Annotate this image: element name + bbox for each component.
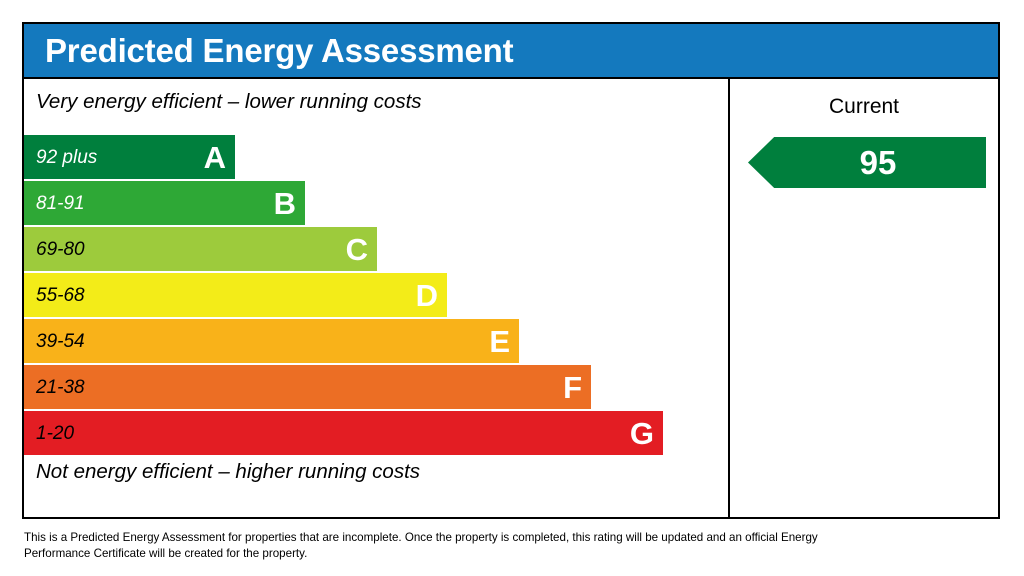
rating-band-e: 39-54E xyxy=(24,319,519,363)
band-range-label: 1-20 xyxy=(24,424,74,443)
current-rating-arrow: 95 xyxy=(748,137,986,188)
band-range-label: 21-38 xyxy=(24,378,85,397)
band-range-label: 39-54 xyxy=(24,332,85,351)
rating-band-c: 69-80C xyxy=(24,227,377,271)
current-column-header: Current xyxy=(730,95,998,119)
band-letter-label: E xyxy=(489,326,519,357)
footnote-text: This is a Predicted Energy Assessment fo… xyxy=(24,530,824,563)
band-letter-label: G xyxy=(630,418,663,449)
epc-screenshot: Predicted Energy Assessment Very energy … xyxy=(0,0,1024,576)
chart-title-banner: Predicted Energy Assessment xyxy=(24,24,998,77)
efficient-caption: Very energy efficient – lower running co… xyxy=(36,90,422,114)
rating-scale-column: Very energy efficient – lower running co… xyxy=(24,79,728,517)
band-range-label: 55-68 xyxy=(24,286,85,305)
band-letter-label: A xyxy=(204,142,235,173)
inefficient-caption: Not energy efficient – higher running co… xyxy=(36,460,420,484)
page-title: Predicted Energy Assessment xyxy=(24,34,513,67)
rating-band-g: 1-20G xyxy=(24,411,663,455)
band-letter-label: D xyxy=(416,280,447,311)
chart-body: Very energy efficient – lower running co… xyxy=(24,77,998,517)
rating-bands-list: 92 plusA81-91B69-80C55-68D39-54E21-38F1-… xyxy=(24,135,728,457)
rating-band-b: 81-91B xyxy=(24,181,305,225)
band-letter-label: C xyxy=(346,234,377,265)
rating-band-f: 21-38F xyxy=(24,365,591,409)
rating-band-d: 55-68D xyxy=(24,273,447,317)
band-letter-label: B xyxy=(274,188,305,219)
current-rating-column: Current 95 xyxy=(730,79,998,517)
band-range-label: 81-91 xyxy=(24,194,85,213)
rating-band-a: 92 plusA xyxy=(24,135,235,179)
band-range-label: 69-80 xyxy=(24,240,85,259)
band-letter-label: F xyxy=(563,372,591,403)
current-rating-value: 95 xyxy=(748,137,986,188)
band-range-label: 92 plus xyxy=(24,148,97,167)
epc-chart-frame: Predicted Energy Assessment Very energy … xyxy=(22,22,1000,519)
